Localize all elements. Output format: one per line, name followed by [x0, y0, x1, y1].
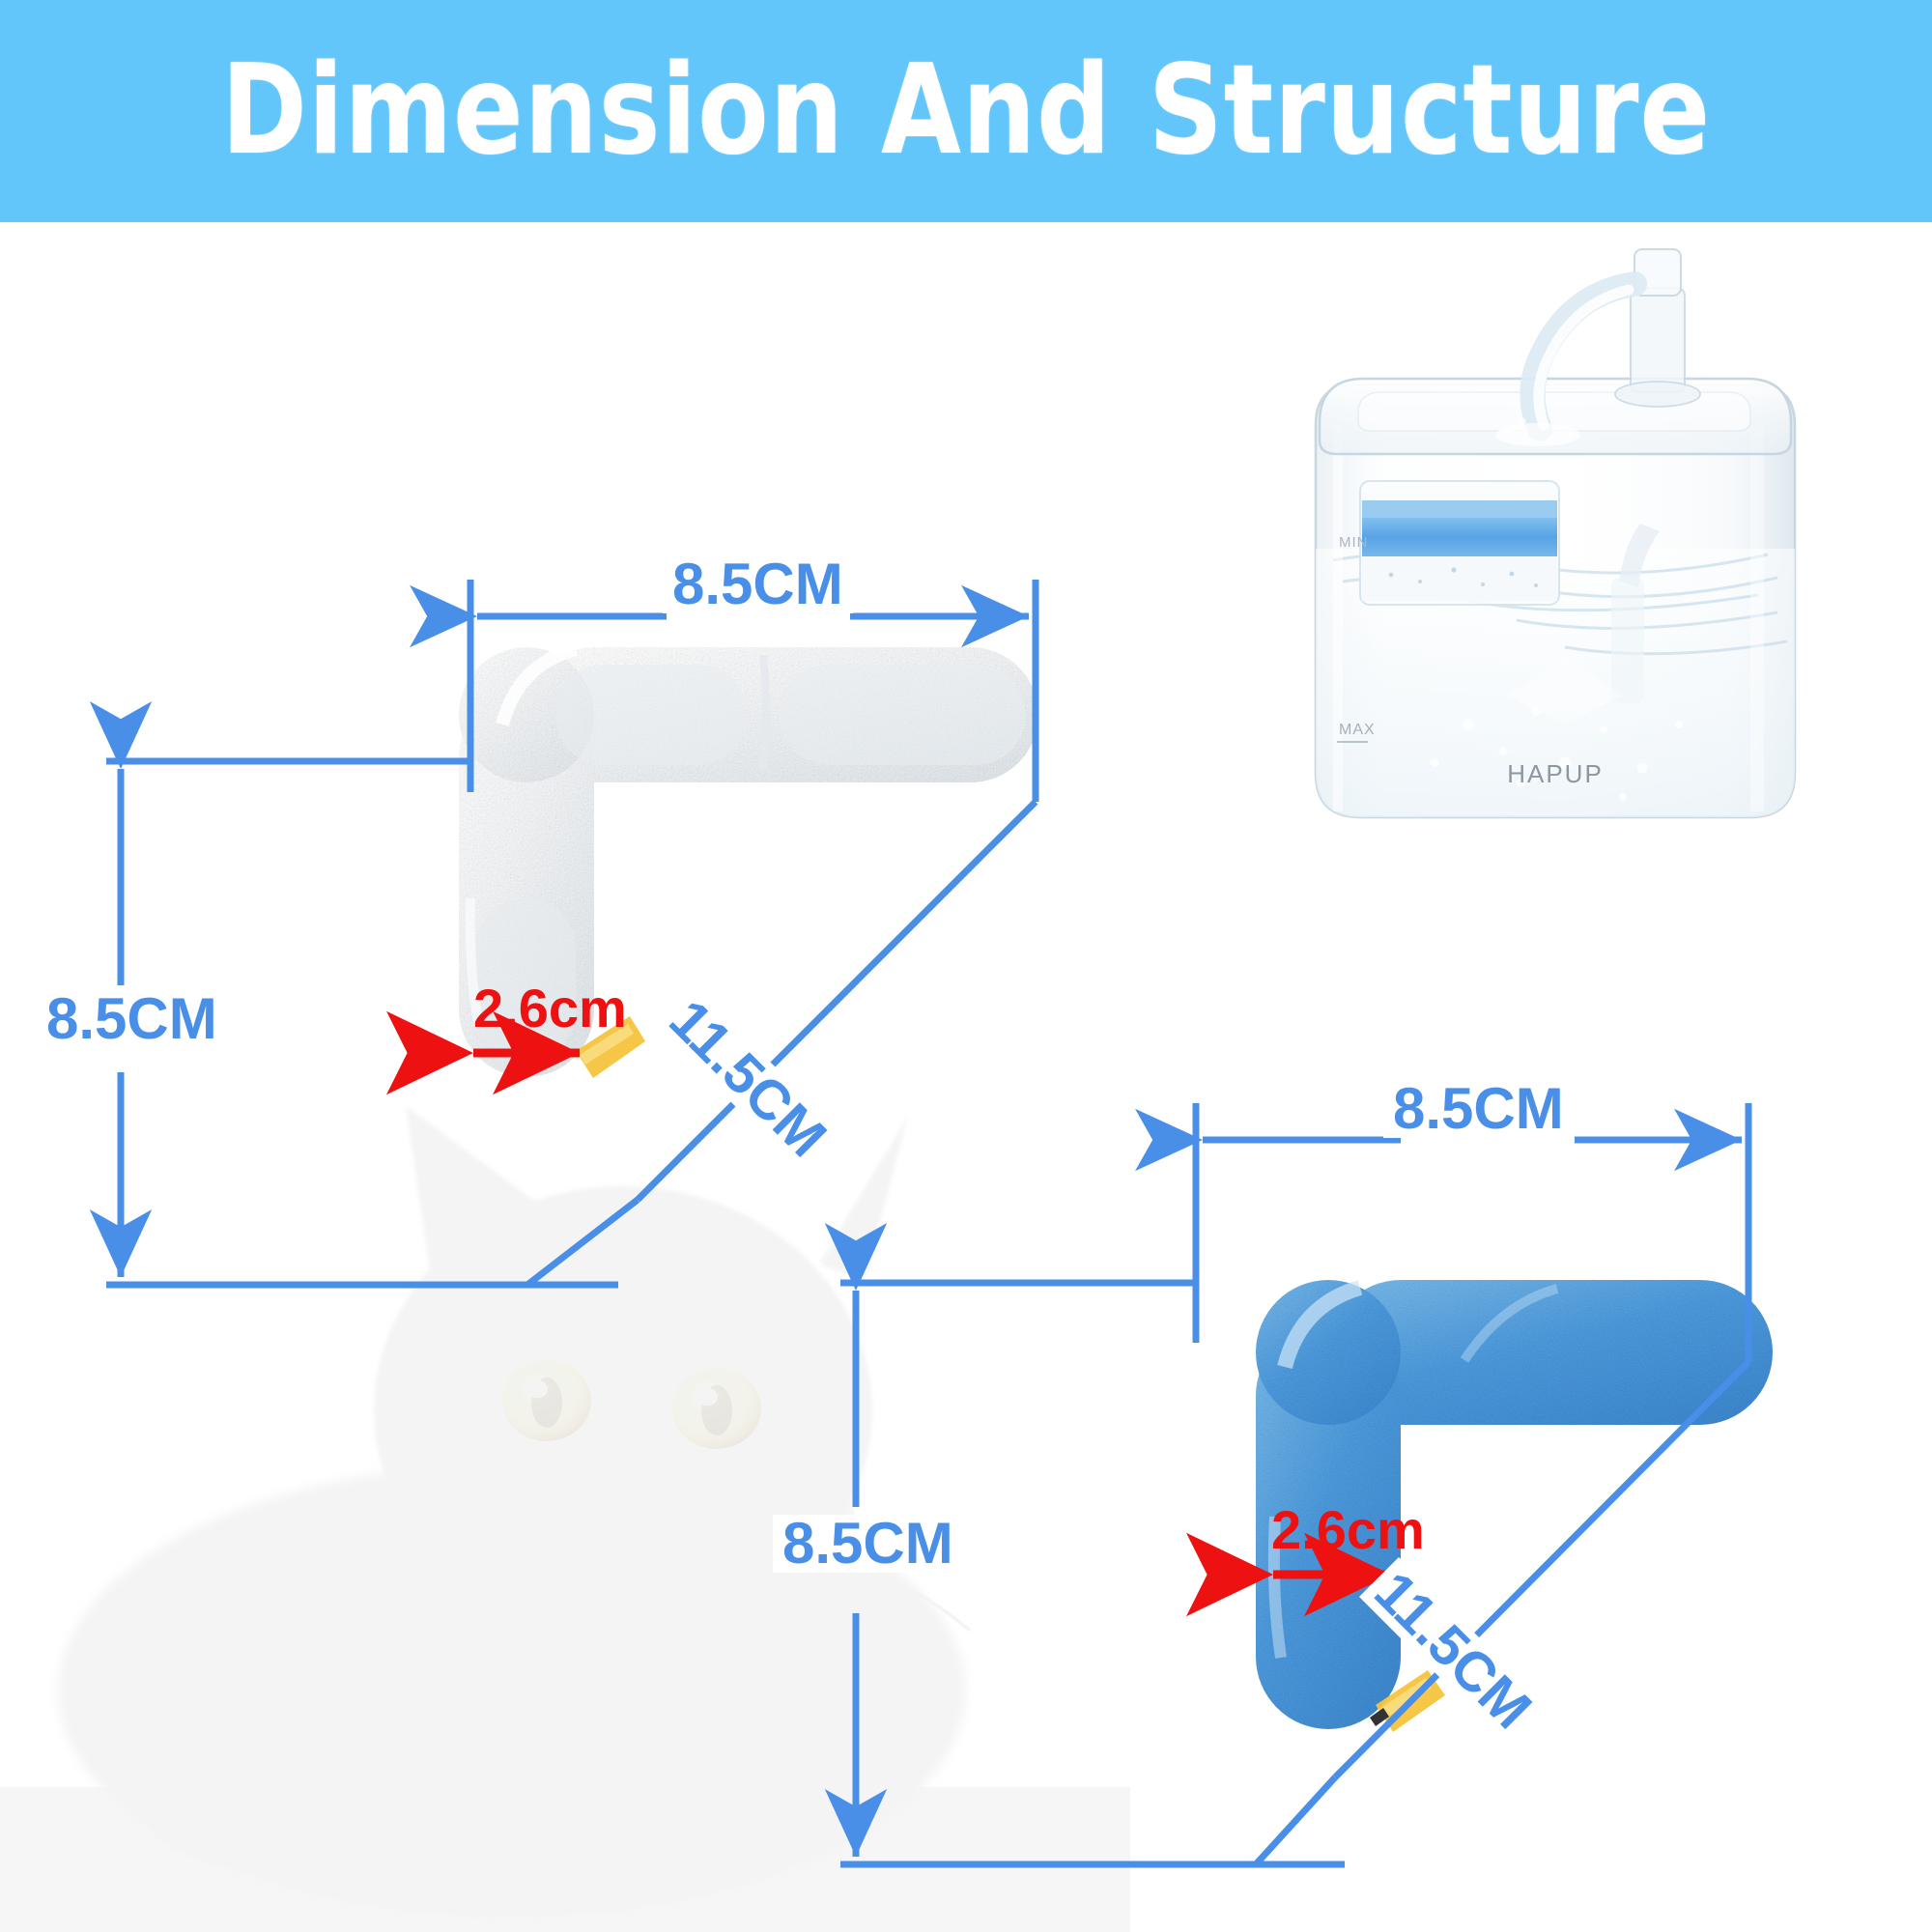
header-banner: Dimension And Structure — [0, 0, 1932, 222]
fountain-brand-label: HAPUP — [1507, 759, 1604, 788]
blue-filter-width-label: 8.5CM — [1383, 1080, 1574, 1138]
infographic-canvas: MIN MAX HAPUP — [0, 222, 1932, 1932]
blue-filter-height-label: 8.5CM — [773, 1515, 963, 1573]
page-title: Dimension And Structure — [221, 49, 1711, 173]
fountain-max-label: MAX — [1339, 722, 1376, 738]
blue-filter-diagonal-label: 11.5CM — [1359, 1557, 1547, 1745]
white-filter-height-label: 8.5CM — [37, 990, 227, 1048]
blue-filter-thickness-label: 2.6cm — [1271, 1503, 1425, 1557]
fountain-min-label: MIN — [1339, 534, 1369, 551]
white-filter-width-label: 8.5CM — [663, 555, 853, 613]
white-filter-thickness-label: 2.6cm — [473, 981, 627, 1036]
cat-photo — [0, 1024, 1130, 1932]
pet-fountain-product: MIN MAX HAPUP — [1275, 241, 1835, 889]
